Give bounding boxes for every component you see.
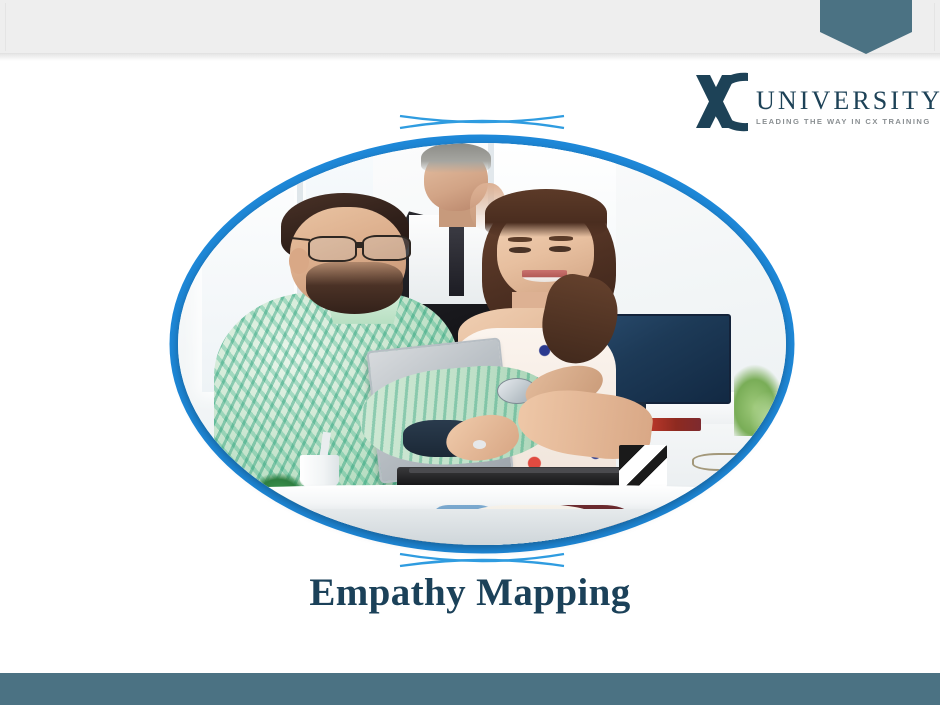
office-team-photo [178,143,786,545]
photo-woman-hair-front [485,189,607,237]
photo-standing-man-tie [449,227,465,295]
oval-photo-mask [178,143,786,545]
photo-plant-secondary [750,392,786,444]
photo-desk-glasses [692,453,759,471]
slide-canvas: UNIVERSITY LEADING THE WAY IN CX TRAININ… [0,0,940,705]
photo-man-glasses-left-lens [308,236,358,262]
photo-patterned-mug [619,445,668,489]
photo-woman-brow-right [549,236,573,240]
footer-bar [0,673,940,705]
photo-desk-books [646,418,701,431]
photo-woman-eye-right [549,246,571,252]
oval-photo-group [160,108,804,580]
photo-man-beard [306,262,403,314]
photo-man-glasses-bridge [356,242,363,248]
photo-standing-man-hair [421,143,491,173]
page-title: Empathy Mapping [0,570,940,615]
photo-woman-eye-left [509,247,531,253]
top-band-inner-border [5,3,935,51]
photo-table-underside [178,509,786,545]
top-gray-band [0,0,940,54]
photo-man-ear [289,248,310,274]
accent-cross-top-icon [398,108,566,134]
top-band-shadow [0,54,940,61]
photo-man-glasses-right-lens [362,235,412,261]
photo-laptop-hinge [409,468,640,473]
photo-woman-brow-left [508,237,532,241]
